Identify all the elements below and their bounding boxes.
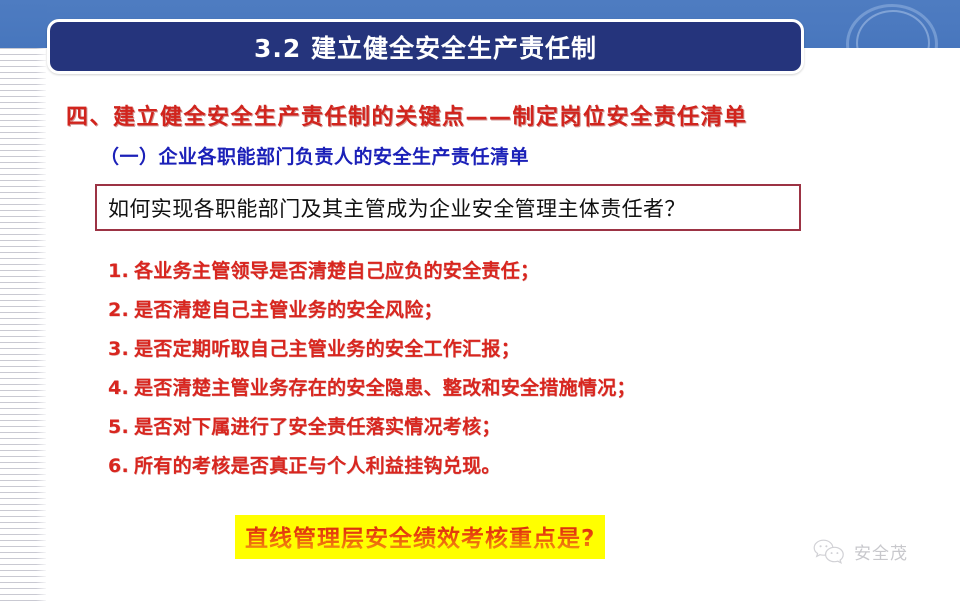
wechat-bubbles-icon (812, 538, 846, 564)
highlight-banner: 直线管理层安全绩效考核重点是? (235, 515, 605, 559)
highlight-text: 直线管理层安全绩效考核重点是? (245, 519, 595, 553)
list-item-label: 是否对下属进行了安全责任落实情况考核； (134, 412, 501, 439)
list-item: 6. 所有的考核是否真正与个人利益挂钩兑现。 (108, 451, 848, 490)
list-item-number: 1. (108, 260, 134, 282)
list-item-number: 4. (108, 377, 134, 399)
left-stripe-fade (36, 48, 52, 601)
list-item-label: 各业务主管领导是否清楚自己应负的安全责任； (134, 256, 539, 283)
list-item: 1. 各业务主管领导是否清楚自己应负的安全责任； (108, 256, 848, 295)
list-item-number: 2. (108, 299, 134, 321)
list-item: 4. 是否清楚主管业务存在的安全隐患、整改和安全措施情况； (108, 373, 848, 412)
watermark: 安全茂 (812, 538, 908, 564)
list-item-number: 5. (108, 416, 134, 438)
list-item-label: 是否清楚主管业务存在的安全隐患、整改和安全措施情况； (134, 373, 636, 400)
section-heading-red: 四、建立健全安全生产责任制的关键点——制定岗位安全责任清单 (66, 99, 748, 131)
list-item-number: 6. (108, 455, 134, 477)
checklist: 1. 各业务主管领导是否清楚自己应负的安全责任； 2. 是否清楚自己主管业务的安… (108, 256, 848, 490)
list-item: 2. 是否清楚自己主管业务的安全风险； (108, 295, 848, 334)
list-item: 5. 是否对下属进行了安全责任落实情况考核； (108, 412, 848, 451)
page-title: 3.2 建立健全安全生产责任制 (254, 29, 597, 65)
watermark-label: 安全茂 (854, 539, 908, 564)
list-item-label: 是否定期听取自己主管业务的安全工作汇报； (134, 334, 520, 361)
top-left-blue-block (0, 0, 47, 48)
question-box: 如何实现各职能部门及其主管成为企业安全管理主体责任者？ (95, 184, 801, 231)
question-text: 如何实现各职能部门及其主管成为企业安全管理主体责任者？ (108, 193, 686, 223)
subsection-heading-blue: （一）企业各职能部门负责人的安全生产责任清单 (100, 142, 529, 169)
list-item: 3. 是否定期听取自己主管业务的安全工作汇报； (108, 334, 848, 373)
slide-canvas: 3.2 建立健全安全生产责任制 四、建立健全安全生产责任制的关键点——制定岗位安… (0, 0, 960, 601)
list-item-number: 3. (108, 338, 134, 360)
list-item-label: 所有的考核是否真正与个人利益挂钩兑现。 (134, 451, 501, 478)
slide-title-bar: 3.2 建立健全安全生产责任制 (47, 19, 804, 74)
list-item-label: 是否清楚自己主管业务的安全风险； (134, 295, 443, 322)
